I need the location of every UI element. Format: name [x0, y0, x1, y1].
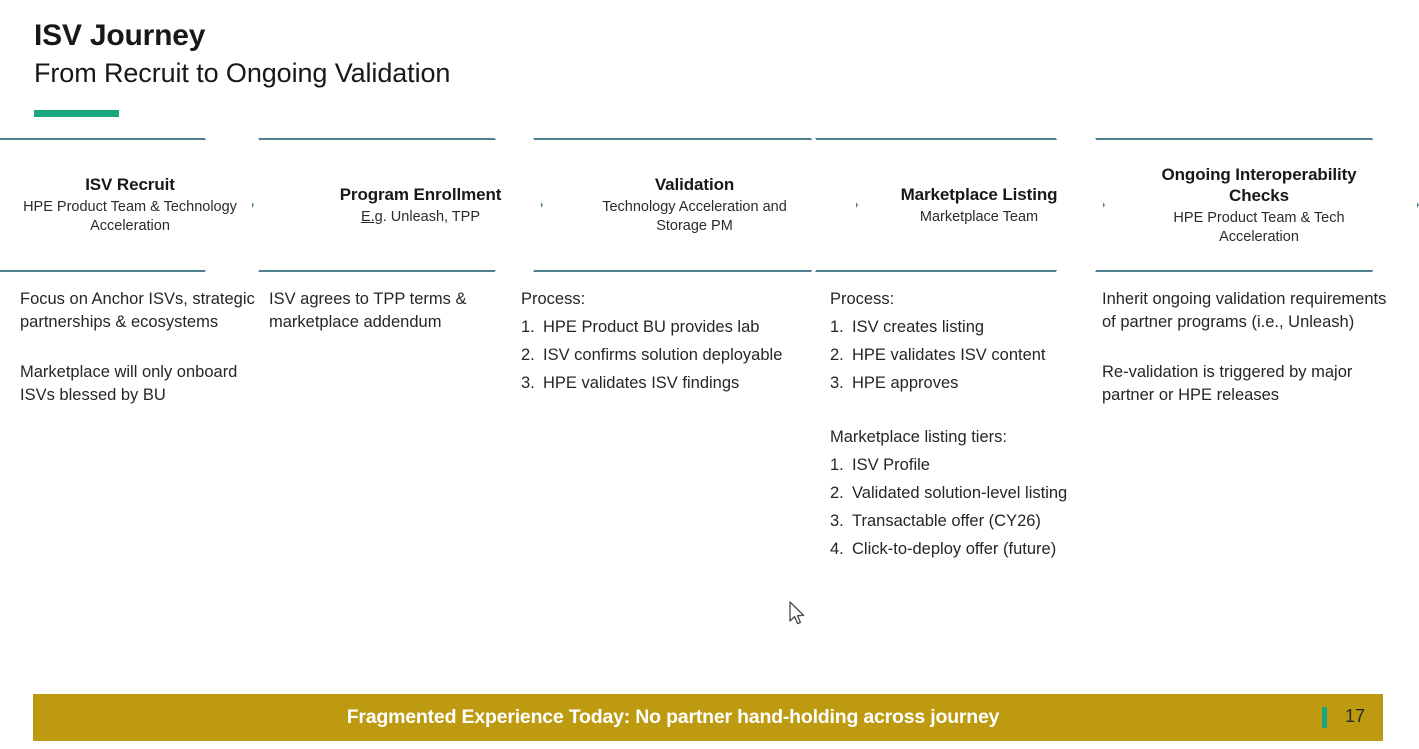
list-item-number: 3.	[521, 371, 543, 395]
list-item-text: HPE validates ISV findings	[543, 371, 821, 395]
numbered-list: 1.ISV creates listing 2.HPE validates IS…	[830, 315, 1102, 395]
detail-column-program-enrollment: ISV agrees to TPP terms & marketplace ad…	[269, 288, 514, 334]
list-item: 3.Transactable offer (CY26)	[830, 509, 1102, 533]
list-item-text: HPE validates ISV content	[852, 343, 1102, 367]
numbered-list-secondary: 1.ISV Profile 2.Validated solution-level…	[830, 453, 1102, 561]
chevron-stage-subtitle: HPE Product Team & Technology Accelerati…	[20, 198, 240, 236]
column-paragraph: Inherit ongoing validation requirements …	[1102, 288, 1392, 334]
chevron-stage-subtitle: HPE Product Team & Tech Acceleration	[1149, 209, 1369, 247]
chevron-stage-marketplace-listing[interactable]: Marketplace Listing Marketplace Team	[815, 138, 1105, 272]
page-title-block: ISV Journey From Recruit to Ongoing Vali…	[34, 18, 934, 90]
detail-column-isv-recruit: Focus on Anchor ISVs, strategic partners…	[20, 288, 260, 407]
page-number-marker-icon	[1322, 707, 1327, 728]
detail-column-marketplace-listing: Process: 1.ISV creates listing 2.HPE val…	[830, 288, 1102, 565]
list-item-number: 2.	[830, 343, 852, 367]
chevron-stage-program-enrollment[interactable]: Program Enrollment E.g. Unleash, TPP	[258, 138, 543, 272]
page-number: 17	[1345, 706, 1365, 727]
list-item: 2.HPE validates ISV content	[830, 343, 1102, 367]
list-item: 1.HPE Product BU provides lab	[521, 315, 821, 339]
column-heading: Process:	[830, 288, 1102, 311]
list-item-text: HPE Product BU provides lab	[543, 315, 821, 339]
chevron-subtitle-underlined: E.g	[361, 209, 383, 225]
list-item: 3.HPE validates ISV findings	[521, 371, 821, 395]
list-item-text: Transactable offer (CY26)	[852, 509, 1102, 533]
list-item: 1.ISV Profile	[830, 453, 1102, 477]
chevron-stage-isv-recruit[interactable]: ISV Recruit HPE Product Team & Technolog…	[0, 138, 254, 272]
chevron-stage-subtitle: E.g. Unleash, TPP	[312, 208, 529, 227]
chevron-stage-title: Validation	[585, 174, 804, 195]
footer-banner: Fragmented Experience Today: No partner …	[33, 694, 1383, 741]
list-item: 4.Click-to-deploy offer (future)	[830, 537, 1102, 561]
list-item-text: ISV creates listing	[852, 315, 1102, 339]
list-item-number: 1.	[521, 315, 543, 339]
detail-column-validation: Process: 1.HPE Product BU provides lab 2…	[521, 288, 821, 399]
detail-columns: Focus on Anchor ISVs, strategic partners…	[0, 288, 1419, 678]
page-subtitle: From Recruit to Ongoing Validation	[34, 56, 934, 90]
chevron-subtitle-rest: . Unleash, TPP	[383, 209, 480, 225]
chevron-stage-title: Ongoing Interoperability Checks	[1149, 164, 1369, 206]
list-item: 2.Validated solution-level listing	[830, 481, 1102, 505]
list-item-text: ISV confirms solution deployable	[543, 343, 821, 367]
spacer	[830, 399, 1102, 426]
list-item-number: 3.	[830, 371, 852, 395]
spacer	[20, 334, 260, 361]
spacer	[1102, 334, 1392, 361]
accent-bar	[34, 110, 119, 117]
column-paragraph: Marketplace will only onboard ISVs bless…	[20, 361, 260, 407]
chevron-stage-ongoing-interoperability-checks[interactable]: Ongoing Interoperability Checks HPE Prod…	[1095, 138, 1419, 272]
list-item-text: HPE approves	[852, 371, 1102, 395]
chevron-stage-title: Program Enrollment	[312, 184, 529, 205]
page-title: ISV Journey	[34, 18, 934, 54]
list-item-number: 2.	[830, 481, 852, 505]
column-heading: Process:	[521, 288, 821, 311]
list-item: 1.ISV creates listing	[830, 315, 1102, 339]
chevron-stage-validation[interactable]: Validation Technology Acceleration and S…	[533, 138, 858, 272]
list-item-number: 1.	[830, 315, 852, 339]
list-item-text: ISV Profile	[852, 453, 1102, 477]
column-paragraph: Re-validation is triggered by major part…	[1102, 361, 1392, 407]
list-item-number: 2.	[521, 343, 543, 367]
chevron-stage-subtitle: Technology Acceleration and Storage PM	[585, 198, 804, 236]
chevron-stage-title: ISV Recruit	[20, 174, 240, 195]
column-paragraph: ISV agrees to TPP terms & marketplace ad…	[269, 288, 514, 334]
list-item: 2.ISV confirms solution deployable	[521, 343, 821, 367]
chevron-stage-title: Marketplace Listing	[867, 184, 1091, 205]
numbered-list: 1.HPE Product BU provides lab 2.ISV conf…	[521, 315, 821, 395]
detail-column-ongoing-interoperability: Inherit ongoing validation requirements …	[1102, 288, 1392, 407]
list-item-text: Validated solution-level listing	[852, 481, 1102, 505]
column-heading-secondary: Marketplace listing tiers:	[830, 426, 1102, 449]
list-item: 3.HPE approves	[830, 371, 1102, 395]
list-item-number: 3.	[830, 509, 852, 533]
list-item-number: 4.	[830, 537, 852, 561]
column-paragraph: Focus on Anchor ISVs, strategic partners…	[20, 288, 260, 334]
list-item-text: Click-to-deploy offer (future)	[852, 537, 1102, 561]
footer-banner-text: Fragmented Experience Today: No partner …	[33, 706, 1383, 729]
chevron-stage-subtitle: Marketplace Team	[867, 208, 1091, 227]
list-item-number: 1.	[830, 453, 852, 477]
process-chevron-band: ISV Recruit HPE Product Team & Technolog…	[0, 138, 1419, 272]
